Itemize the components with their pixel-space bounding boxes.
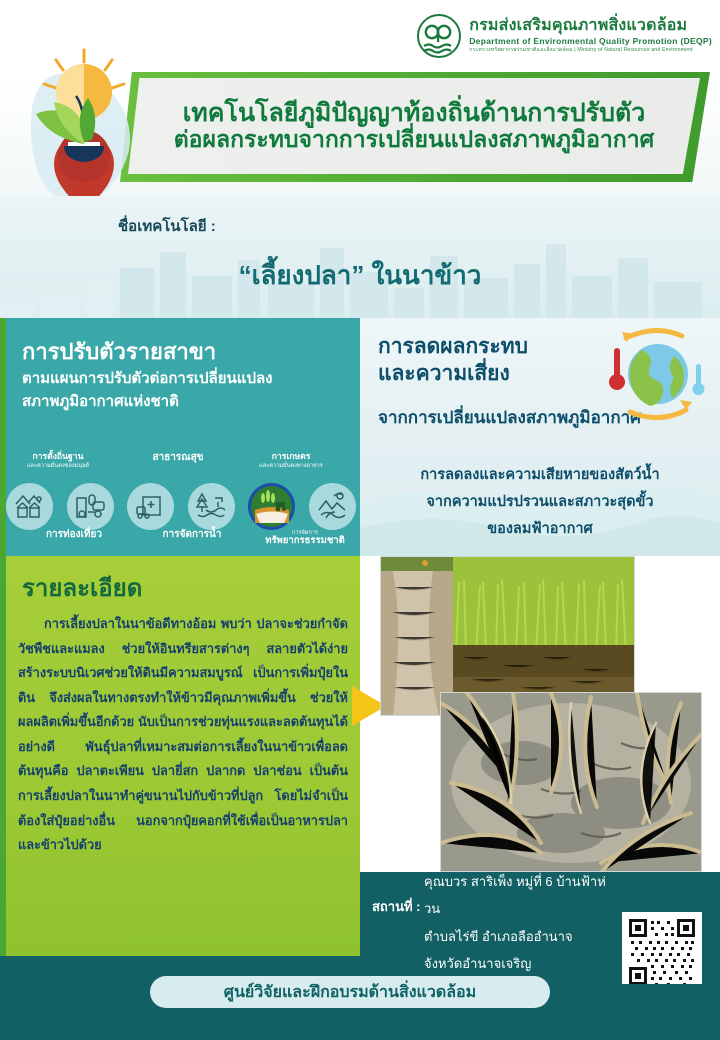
sector-label-natural-resources: การจัดการ ทรัพยากรธรรมชาติ — [252, 529, 358, 547]
tourism-icon[interactable] — [67, 483, 114, 530]
qr-code[interactable] — [622, 912, 702, 992]
qr-code-icon — [627, 917, 697, 987]
sector-label-settlement: การตั้งถิ่นฐาน และความมั่นคงของมนุษย์ — [6, 452, 110, 469]
mitigation-heading-line1: การลดผลกระทบ — [378, 335, 528, 358]
mitigation-heading-line2: และความเสี่ยง — [378, 362, 510, 385]
water-management-icon[interactable] — [188, 483, 235, 530]
poster-title-line1: เทคโนโลยีภูมิปัญญาท้องถิ่นด้านการปรับตัว — [183, 99, 645, 127]
natural-resources-icon[interactable] — [309, 483, 356, 530]
mitigation-body-line2: จากความแปรปรวนและสภาวะสุดขั้ว — [426, 494, 653, 510]
mitigation-body: การลดลงและความเสียหายของสัตว์น้ำ จากความ… — [368, 462, 712, 542]
sector-icon-row — [6, 482, 356, 530]
technology-label: ชื่อเทคโนโลยี : — [118, 214, 216, 238]
mitigation-body-line3: ของลมฟ้าอากาศ — [487, 521, 593, 537]
tourism-glyph-icon — [74, 490, 106, 522]
adaptation-subheading-line1: ตามแผนการปรับตัวต่อการเปลี่ยนแปลง — [22, 370, 273, 387]
hospital-glyph-icon — [135, 490, 167, 522]
adaptation-heading: การปรับตัวรายสาขา — [22, 334, 216, 369]
location-line1: คุณบวร สาริเพ็ง หมู่ที่ 6 บ้านฟ้าห่วน — [424, 874, 606, 916]
sector-label-public-health: สาธารณสุข — [128, 452, 228, 463]
sector-label-tourism: การท่องเที่ยว — [22, 529, 126, 540]
deqp-logo: กรมส่งเสริมคุณภาพสิ่งแวดล้อม Department … — [417, 14, 712, 58]
details-heading: รายละเอียด — [22, 568, 142, 607]
location-label: สถานที่ : — [372, 896, 421, 917]
location-line2: ตำบลไร่ขี อำเภอลืออำนาจ — [424, 929, 573, 944]
public-health-icon[interactable] — [127, 483, 174, 530]
deqp-emblem-icon — [417, 14, 461, 58]
details-body: การเลี้ยงปลาในนาข้อดีทางอ้อม พบว่า ปลาจะ… — [18, 612, 348, 858]
adaptation-subheading: ตามแผนการปรับตัวต่อการเปลี่ยนแปลง สภาพภู… — [22, 368, 348, 413]
title-ribbon: เทคโนโลยีภูมิปัญญาท้องถิ่นด้านการปรับตัว… — [128, 78, 700, 174]
nature-glyph-icon — [316, 490, 348, 522]
settlement-icon[interactable] — [6, 483, 53, 530]
agriculture-glyph-icon — [254, 488, 290, 524]
water-glyph-icon — [195, 490, 227, 522]
deqp-name-en: Department of Environmental Quality Prom… — [469, 37, 712, 46]
lightbulb-leaf-pin-icon — [18, 46, 150, 216]
agriculture-icon[interactable] — [248, 483, 295, 530]
poster-title-line2: ต่อผลกระทบจากการเปลี่ยนแปลงสภาพภูมิอากาศ — [174, 127, 655, 153]
fish-in-paddy-field-photo — [440, 692, 702, 872]
tree-water-icon — [422, 23, 456, 57]
footer-organization: ศูนย์วิจัยและฝึกอบรมด้านสิ่งแวดล้อม — [150, 976, 550, 1008]
poster-root: กรมส่งเสริมคุณภาพสิ่งแวดล้อม Department … — [0, 0, 720, 1040]
mitigation-heading: การลดผลกระทบ และความเสี่ยง — [378, 334, 578, 388]
sector-bottom-labels: การท่องเที่ยว การจัดการน้ำ การจัดการ ทรั… — [0, 529, 360, 557]
location-line3: จังหวัดอำนาจเจริญ — [424, 956, 531, 971]
sector-label-agriculture: การเกษตร และความมั่นคงทางอาหาร — [236, 452, 346, 469]
sector-top-labels: การตั้งถิ่นฐาน และความมั่นคงของมนุษย์ สา… — [0, 452, 360, 486]
mitigation-body-line1: การลดลงและความเสียหายของสัตว์น้ำ — [420, 467, 659, 483]
globe-thermometer-icon — [590, 326, 710, 422]
deqp-name-th: กรมส่งเสริมคุณภาพสิ่งแวดล้อม — [469, 18, 712, 35]
sector-label-water: การจัดการน้ำ — [140, 529, 244, 540]
settlement-glyph-icon — [14, 490, 46, 522]
deqp-ministry: กระทรวงทรัพยากรธรรมชาติและสิ่งแวดล้อม | … — [469, 48, 712, 54]
left-green-strip — [0, 318, 6, 956]
thermometer-hot-icon — [609, 348, 625, 390]
technology-name: “เลี้ยงปลา” ในนาข้าว — [0, 255, 720, 296]
photo2-art — [441, 693, 702, 872]
thermometer-cold-icon — [693, 364, 705, 395]
adaptation-subheading-line2: สภาพภูมิอากาศแห่งชาติ — [22, 393, 179, 410]
location-text: คุณบวร สาริเพ็ง หมู่ที่ 6 บ้านฟ้าห่วน ตำ… — [424, 868, 614, 977]
